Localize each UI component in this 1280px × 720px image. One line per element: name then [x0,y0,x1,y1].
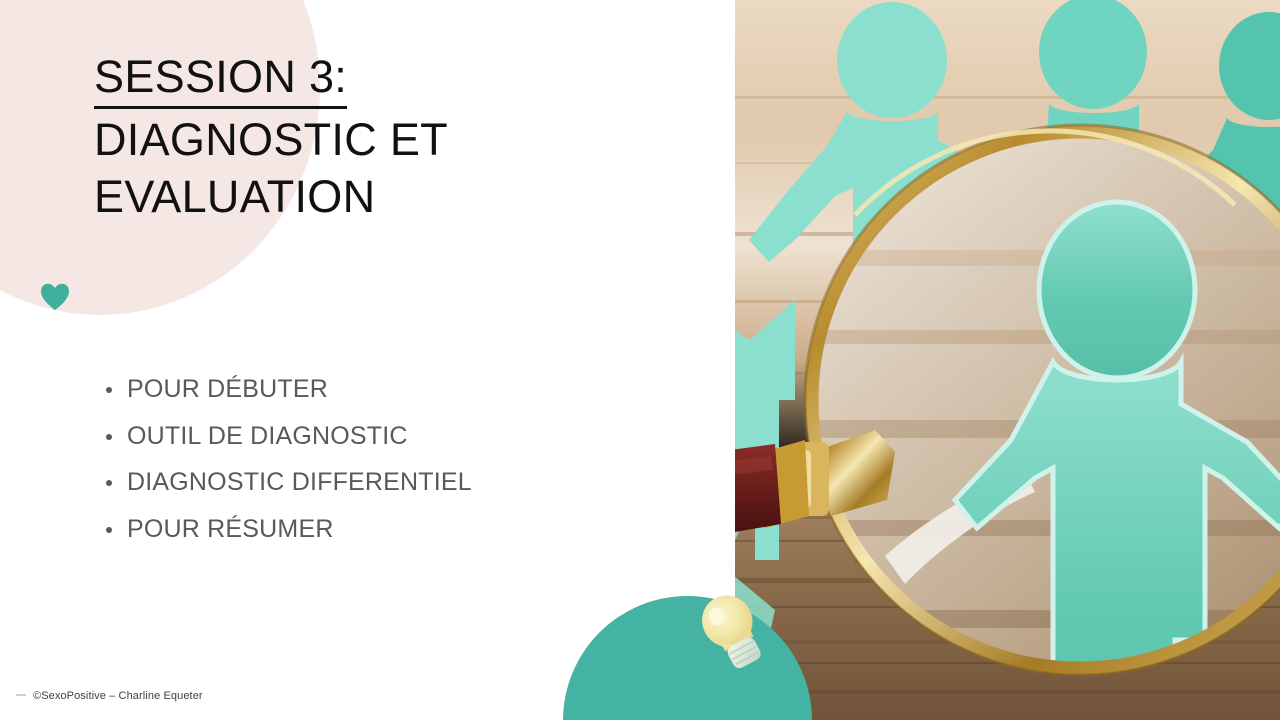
lightbulb-icon [698,590,768,678]
agenda-list: POUR DÉBUTER OUTIL DE DIAGNOSTIC DIAGNOS… [104,366,472,552]
footer-rule [16,694,26,696]
footer-credit: ©SexoPositive – Charline Equeter [33,690,203,702]
heart-icon [40,283,70,311]
list-item: POUR DÉBUTER [104,366,472,413]
list-item: POUR RÉSUMER [104,506,472,553]
presentation-slide: SESSION 3: DIAGNOSTIC ET EVALUATION POUR… [0,0,1280,720]
title-line-session: SESSION 3: [94,48,347,109]
title-line-three: EVALUATION [94,168,714,225]
title-line-two: DIAGNOSTIC ET [94,111,714,168]
slide-photo [735,0,1280,720]
list-item: OUTIL DE DIAGNOSTIC [104,413,472,460]
list-item: DIAGNOSTIC DIFFERENTIEL [104,459,472,506]
slide-title: SESSION 3: DIAGNOSTIC ET EVALUATION [94,48,714,225]
